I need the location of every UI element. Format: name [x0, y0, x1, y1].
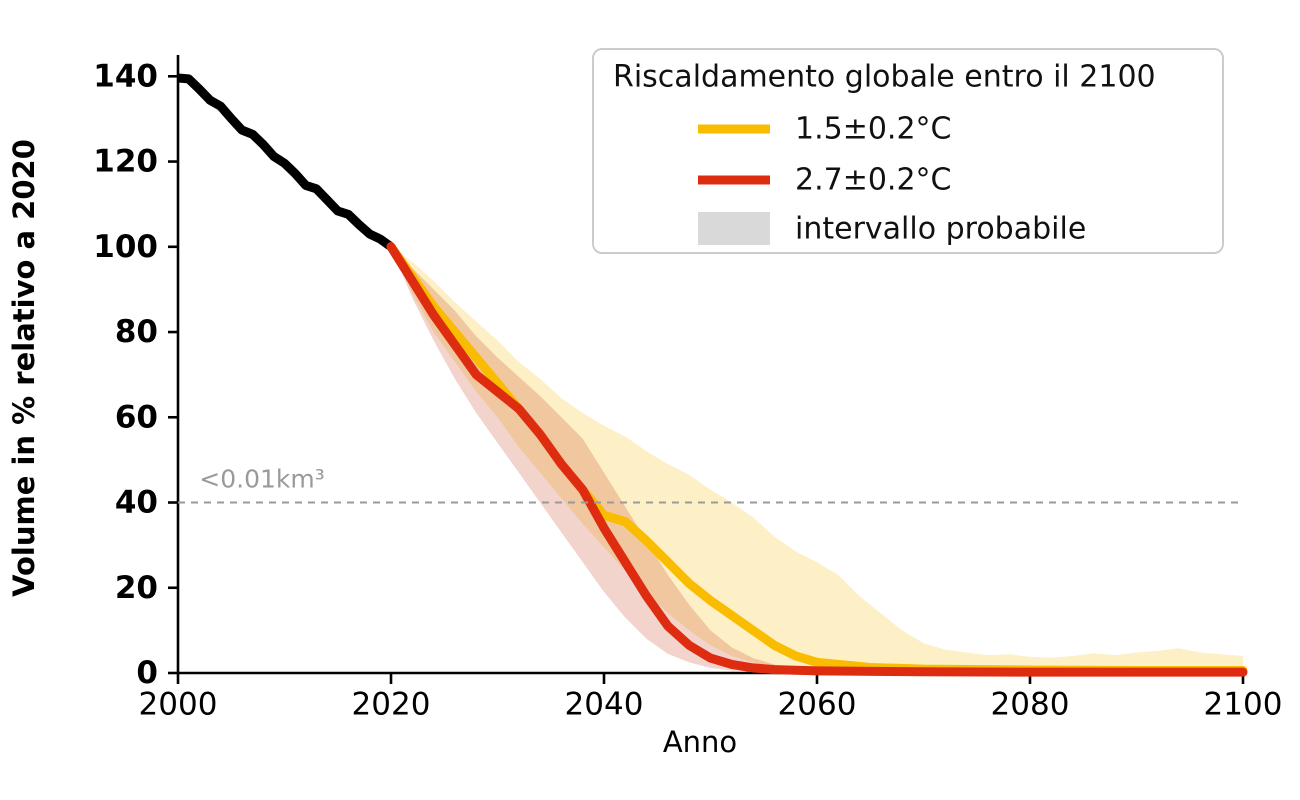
legend-label-likely-range: intervallo probabile	[795, 212, 1086, 247]
legend-label-1p5: 1.5±0.2°C	[795, 112, 952, 147]
y-tick-label: 80	[115, 314, 158, 350]
y-axis-label: Volume in % relativo a 2020	[7, 139, 41, 597]
x-axis-label: Anno	[663, 725, 737, 759]
y-tick-label: 40	[115, 485, 158, 521]
legend-label-2p7: 2.7±0.2°C	[795, 163, 952, 198]
chart-legend: Riscaldamento globale entro il 2100 1.5±…	[593, 49, 1223, 253]
x-tick-label: 2040	[565, 686, 644, 722]
y-tick-labels: 020406080100120140	[93, 58, 158, 691]
legend-title: Riscaldamento globale entro il 2100	[613, 60, 1156, 95]
y-tick-label: 100	[93, 229, 158, 265]
legend-swatch-likely-range	[698, 212, 770, 245]
glacier-volume-chart: Volume in % relativo a 2020 Anno 0204060…	[0, 0, 1300, 800]
chart-figure: Volume in % relativo a 2020 Anno 0204060…	[0, 0, 1300, 800]
y-tick-label: 120	[93, 144, 158, 180]
y-tick-label: 60	[115, 399, 158, 435]
x-tick-label: 2100	[1204, 686, 1283, 722]
threshold-annotation-label: <0.01km³	[199, 465, 324, 494]
y-tick-label: 140	[93, 58, 158, 94]
y-tick-label: 20	[115, 570, 158, 606]
x-tick-label: 2000	[139, 686, 218, 722]
historic-volume-line	[178, 78, 391, 247]
x-tick-label: 2080	[991, 686, 1070, 722]
x-tick-label: 2060	[778, 686, 857, 722]
x-tick-label: 2020	[352, 686, 431, 722]
x-tick-labels: 200020202040206020802100	[139, 686, 1283, 722]
